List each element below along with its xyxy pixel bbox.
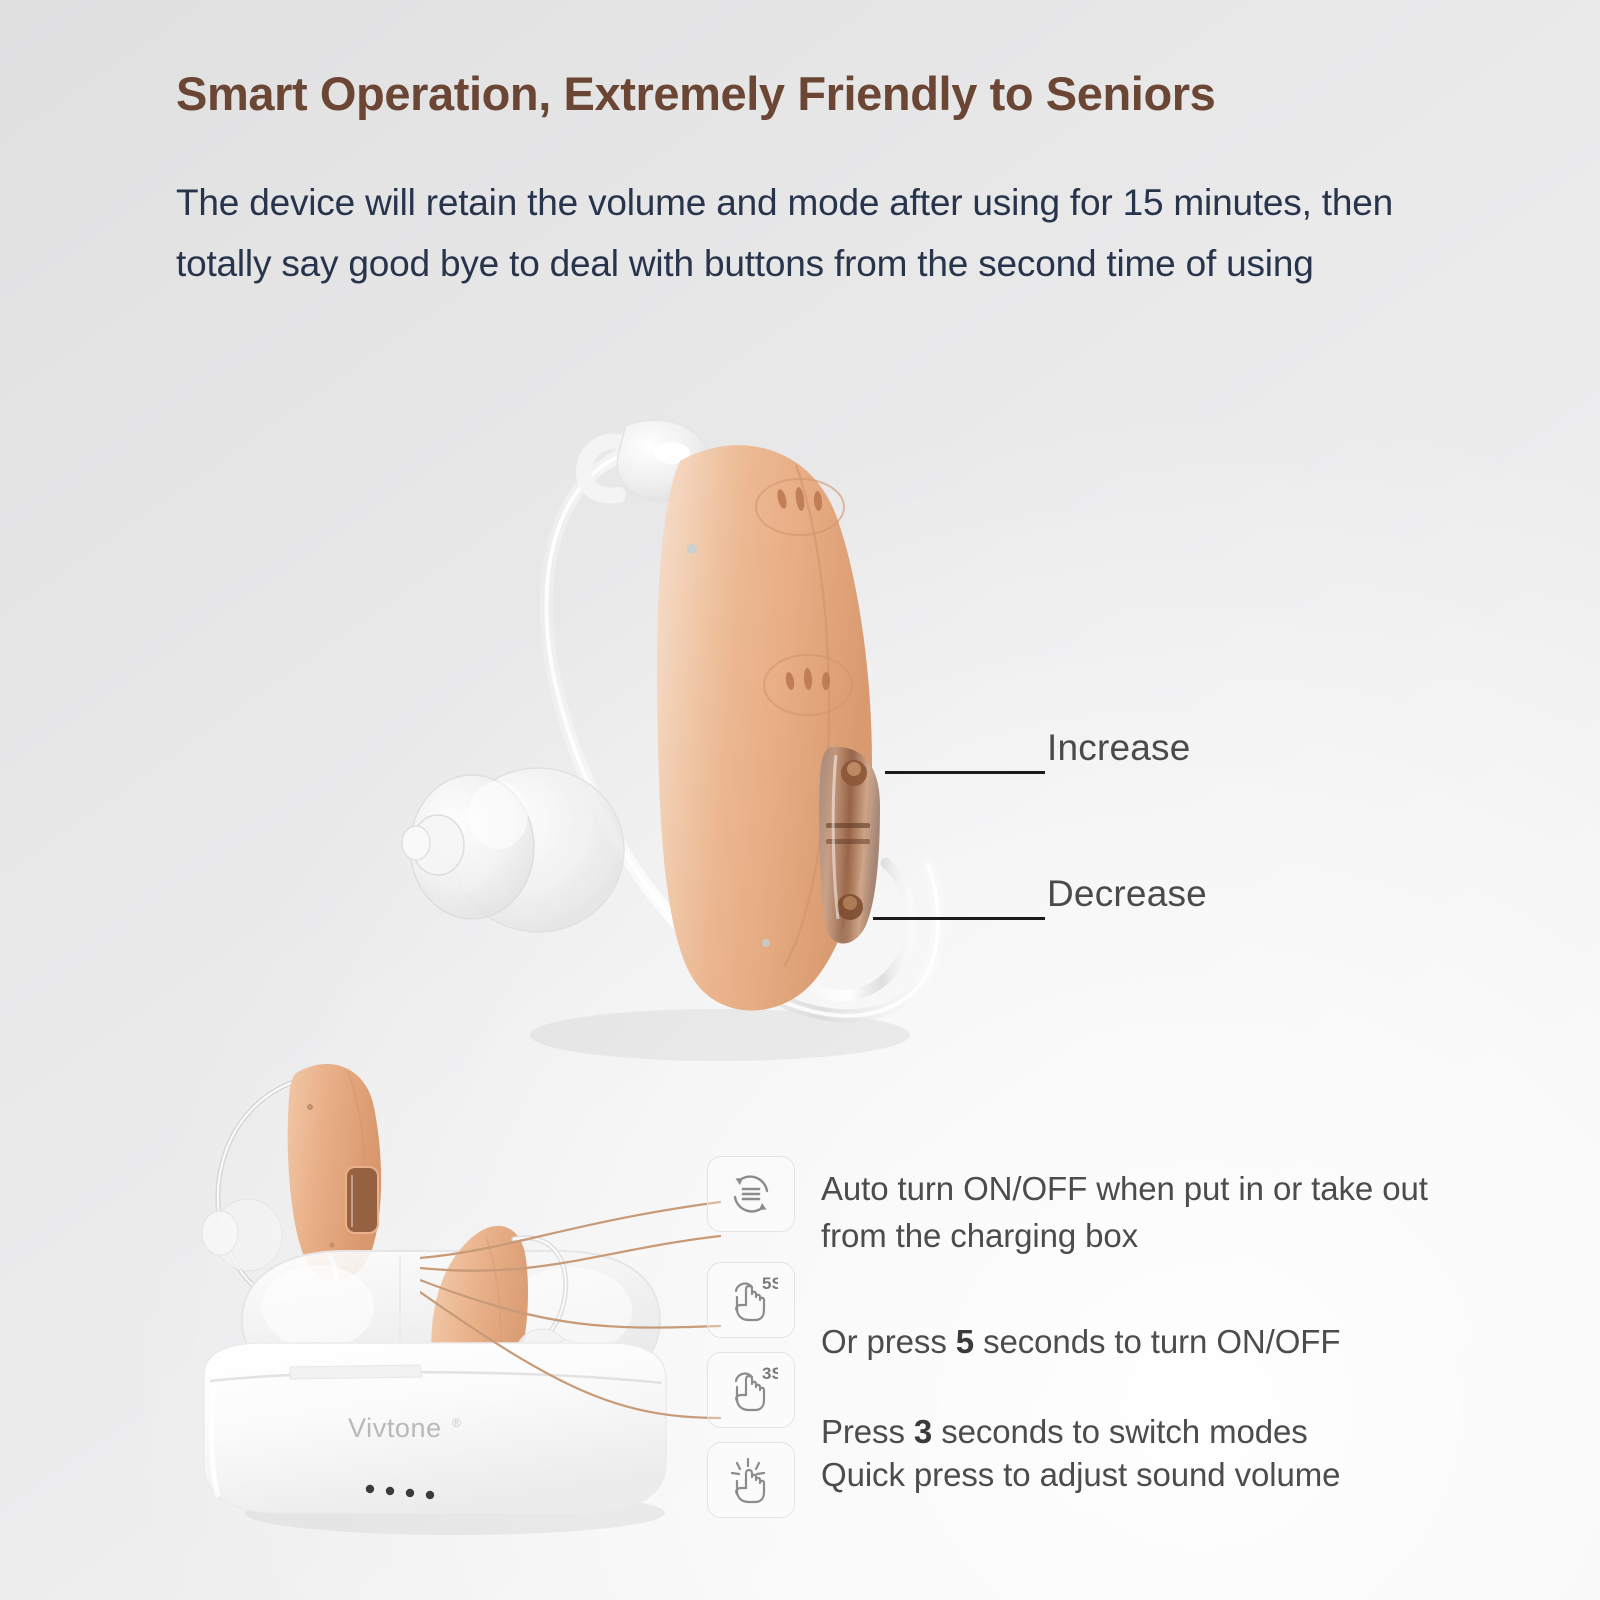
feature-icon-box bbox=[707, 1156, 795, 1232]
seconds-badge-label: 5S bbox=[762, 1275, 778, 1293]
ear-dome bbox=[402, 768, 624, 932]
callout-leader-line-decrease bbox=[873, 917, 1045, 920]
press-hold-hand-icon: 5S bbox=[724, 1275, 778, 1325]
hero-hearing-aid-illustration bbox=[380, 395, 1040, 1095]
auto-sync-icon bbox=[726, 1169, 776, 1219]
feature-label: Or press 5 seconds to turn ON/OFF bbox=[821, 1262, 1340, 1366]
seconds-badge-label: 3S bbox=[762, 1365, 778, 1383]
feature-label: Press 3 seconds to switch modes bbox=[821, 1352, 1308, 1456]
feature-row-press-5s[interactable]: 5S Or press 5 seconds to turn ON/OFF bbox=[707, 1262, 1340, 1366]
product-infographic-page: Smart Operation, Extremely Friendly to S… bbox=[0, 0, 1600, 1600]
callout-label-increase: Increase bbox=[1047, 727, 1191, 769]
svg-text:®: ® bbox=[452, 1416, 461, 1430]
control-window bbox=[819, 747, 880, 944]
press-hold-hand-icon: 3S bbox=[724, 1365, 778, 1415]
feature-label: Auto turn ON/OFF when put in or take out… bbox=[821, 1156, 1467, 1260]
feature-row-press-3s[interactable]: 3S Press 3 seconds to switch modes bbox=[707, 1352, 1308, 1456]
feature-icon-box: 5S bbox=[707, 1262, 795, 1338]
charging-case-illustration: Vivtone ® bbox=[170, 1045, 730, 1545]
page-title: Smart Operation, Extremely Friendly to S… bbox=[176, 68, 1436, 120]
feature-icon-box: 3S bbox=[707, 1352, 795, 1428]
callout-label-decrease: Decrease bbox=[1047, 873, 1207, 915]
callout-leader-line-increase bbox=[885, 771, 1045, 774]
quick-tap-hand-icon bbox=[724, 1455, 778, 1505]
feature-icon-box bbox=[707, 1442, 795, 1518]
svg-text:Vivtone: Vivtone bbox=[348, 1413, 442, 1443]
feature-row-auto-on-off[interactable]: Auto turn ON/OFF when put in or take out… bbox=[707, 1156, 1467, 1260]
feature-label: Quick press to adjust sound volume bbox=[821, 1442, 1340, 1499]
page-subtitle: The device will retain the volume and mo… bbox=[176, 172, 1416, 295]
feature-row-quick-press[interactable]: Quick press to adjust sound volume bbox=[707, 1442, 1340, 1518]
